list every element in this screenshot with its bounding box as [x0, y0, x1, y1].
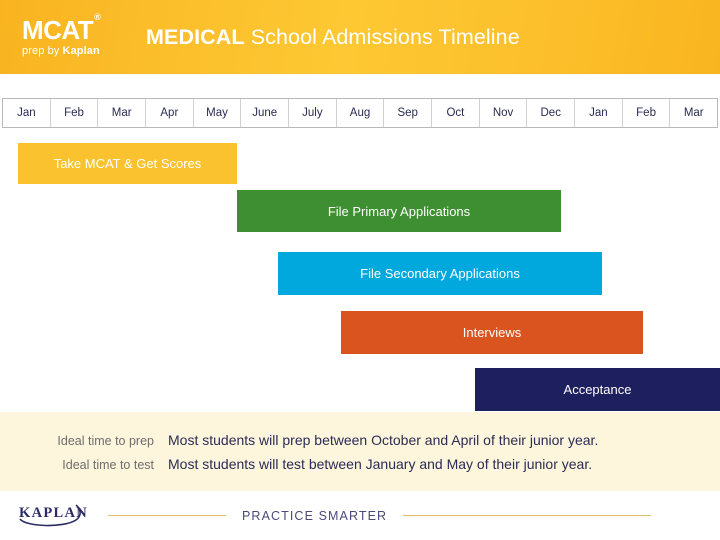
footer-tagline: PRACTICE SMARTER	[242, 509, 387, 523]
month-cell: Feb	[623, 99, 671, 127]
page-title-rest: School Admissions Timeline	[245, 25, 520, 49]
logo-prep-text: prep by	[22, 45, 63, 57]
month-cell: Nov	[480, 99, 528, 127]
page-title-emphasis: MEDICAL	[146, 25, 245, 49]
timeline-bar: File Secondary Applications	[278, 252, 602, 295]
month-cell: Oct	[432, 99, 480, 127]
mcat-wordmark-text: MCAT	[22, 15, 93, 45]
slide-canvas: MCAT® prep by Kaplan MEDICAL School Admi…	[0, 0, 720, 540]
footer-rule-left	[108, 515, 226, 516]
month-cell: June	[241, 99, 289, 127]
month-cell: Aug	[337, 99, 385, 127]
note-row: Ideal time to prepMost students will pre…	[0, 432, 720, 448]
footer-rule-right	[403, 515, 651, 516]
month-cell: Feb	[51, 99, 99, 127]
timeline-bar: Take MCAT & Get Scores	[18, 143, 237, 184]
page-footer: KAPLAN PRACTICE SMARTER	[0, 491, 720, 540]
note-text: Most students will prep between October …	[168, 432, 598, 448]
page-header: MCAT® prep by Kaplan MEDICAL School Admi…	[0, 0, 720, 74]
timeline-month-axis: JanFebMarAprMayJuneJulyAugSepOctNovDecJa…	[2, 98, 718, 128]
month-cell: Jan	[575, 99, 623, 127]
mcat-kaplan-logo: MCAT® prep by Kaplan	[22, 17, 134, 57]
timeline-bars: Take MCAT & Get ScoresFile Primary Appli…	[0, 128, 720, 412]
month-cell: Mar	[670, 99, 717, 127]
kaplan-logo: KAPLAN	[16, 501, 94, 531]
timeline-bar: Interviews	[341, 311, 643, 354]
page-title: MEDICAL School Admissions Timeline	[146, 25, 520, 50]
note-label: Ideal time to test	[0, 458, 168, 472]
notes-panel: Ideal time to prepMost students will pre…	[0, 412, 720, 491]
logo-kaplan-text: Kaplan	[63, 45, 100, 57]
timeline-bar: Acceptance	[475, 368, 720, 411]
logo-subtitle: prep by Kaplan	[22, 46, 100, 57]
mcat-wordmark: MCAT®	[22, 17, 99, 43]
note-label: Ideal time to prep	[0, 434, 168, 448]
note-text: Most students will test between January …	[168, 456, 592, 472]
registered-trademark-icon: ®	[94, 12, 100, 22]
month-cell: Dec	[527, 99, 575, 127]
month-cell: Sep	[384, 99, 432, 127]
kaplan-wordmark: KAPLAN	[19, 505, 88, 522]
month-cell: Jan	[3, 99, 51, 127]
month-cell: May	[194, 99, 242, 127]
timeline-bar: File Primary Applications	[237, 190, 561, 232]
month-cell: Mar	[98, 99, 146, 127]
note-row: Ideal time to testMost students will tes…	[0, 456, 720, 472]
month-cell: Apr	[146, 99, 194, 127]
month-cell: July	[289, 99, 337, 127]
